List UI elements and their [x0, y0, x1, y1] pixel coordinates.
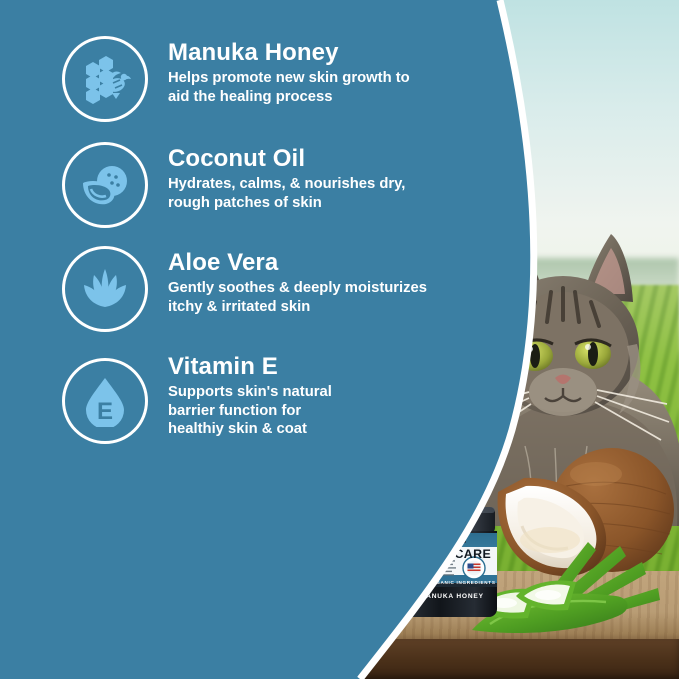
feature-title: Manuka Honey	[168, 40, 428, 65]
feature-manuka-honey: Manuka Honey Helps promote new skin grow…	[0, 34, 430, 122]
feature-description: Hydrates, calms, & nourishes dry, rough …	[168, 175, 428, 212]
aloe-plant-icon	[62, 246, 148, 332]
honeycomb-bee-icon	[62, 36, 148, 122]
feature-title: Coconut Oil	[168, 146, 428, 171]
feature-description: Gently soothes & deeply moisturizes itch…	[168, 279, 428, 316]
feature-text: Manuka Honey Helps promote new skin grow…	[168, 34, 428, 106]
feature-title: Vitamin E	[168, 354, 358, 379]
ingredients-panel: Manuka Honey Helps promote new skin grow…	[0, 0, 560, 679]
feature-description: Helps promote new skin growth to aid the…	[168, 69, 428, 106]
feature-vitamin-e: E Vitamin E Supports skin's natural barr…	[0, 348, 430, 444]
feature-title: Aloe Vera	[168, 250, 428, 275]
feature-coconut-oil: Coconut Oil Hydrates, calms, & nourishes…	[0, 140, 430, 228]
feature-list: Manuka Honey Helps promote new skin grow…	[0, 0, 430, 444]
feature-text: Aloe Vera Gently soothes & deeply moistu…	[168, 244, 428, 316]
feature-text: Vitamin E Supports skin's natural barrie…	[168, 348, 358, 438]
feature-text: Coconut Oil Hydrates, calms, & nourishes…	[168, 140, 428, 212]
coconut-icon	[62, 142, 148, 228]
water-droplet-e-icon: E	[62, 358, 148, 444]
feature-aloe-vera: Aloe Vera Gently soothes & deeply moistu…	[0, 244, 430, 332]
svg-text:E: E	[97, 398, 113, 425]
feature-description: Supports skin's natural barrier function…	[168, 383, 358, 438]
product-infographic: resq organics CAT SKIN CARE NATURAL AND …	[0, 0, 679, 679]
